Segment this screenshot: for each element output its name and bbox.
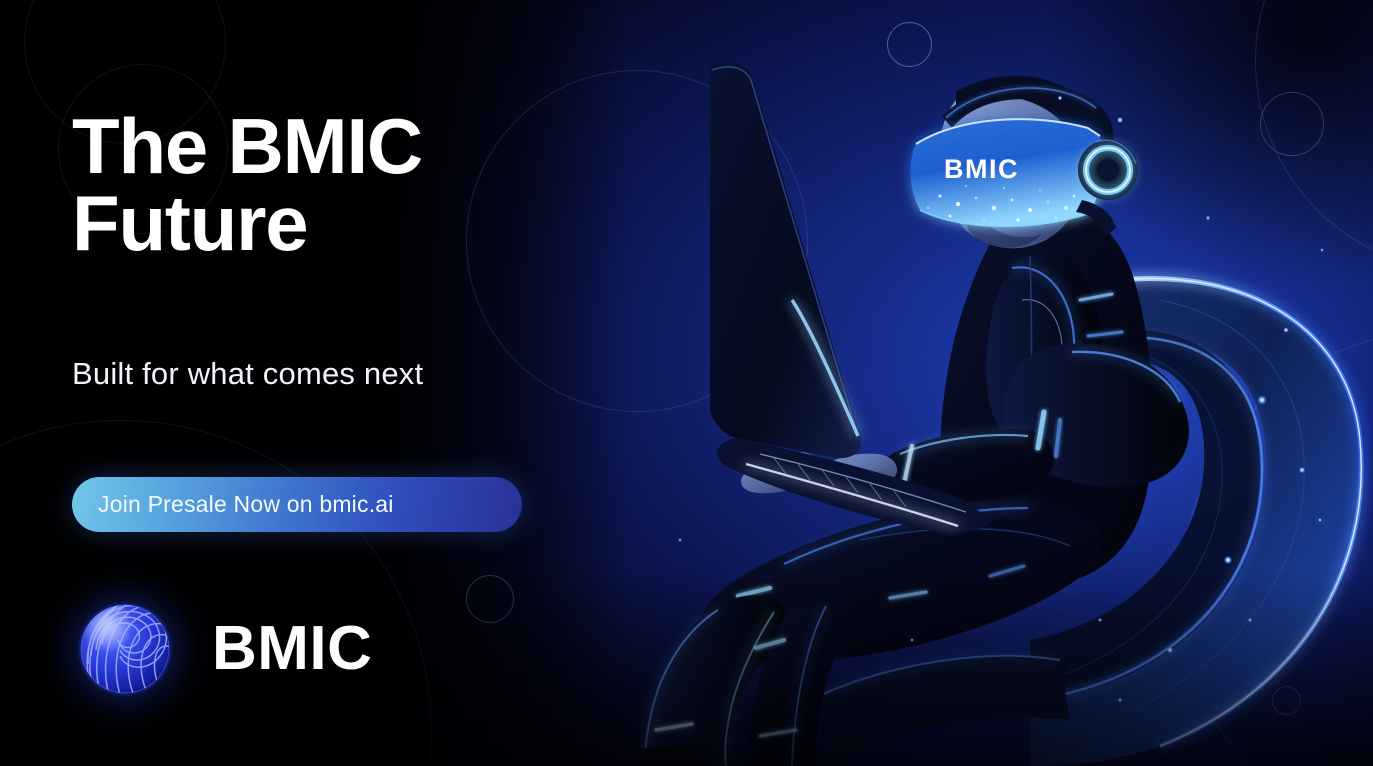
bmic-orb-logo-icon bbox=[74, 598, 176, 700]
join-presale-button[interactable]: Join Presale Now on bmic.ai bbox=[72, 477, 522, 532]
hero-subtitle: Built for what comes next bbox=[72, 350, 482, 398]
brand-lockup: BMIC bbox=[74, 598, 372, 700]
hero-banner: BMIC bbox=[0, 0, 1373, 766]
bmic-wordmark: BMIC bbox=[212, 618, 372, 680]
hero-content: The BMIC Future Built for what comes nex… bbox=[0, 0, 620, 766]
headphone-ring bbox=[1078, 140, 1138, 200]
page-title: The BMIC Future bbox=[72, 108, 542, 262]
visor-label: BMIC bbox=[944, 154, 1019, 184]
